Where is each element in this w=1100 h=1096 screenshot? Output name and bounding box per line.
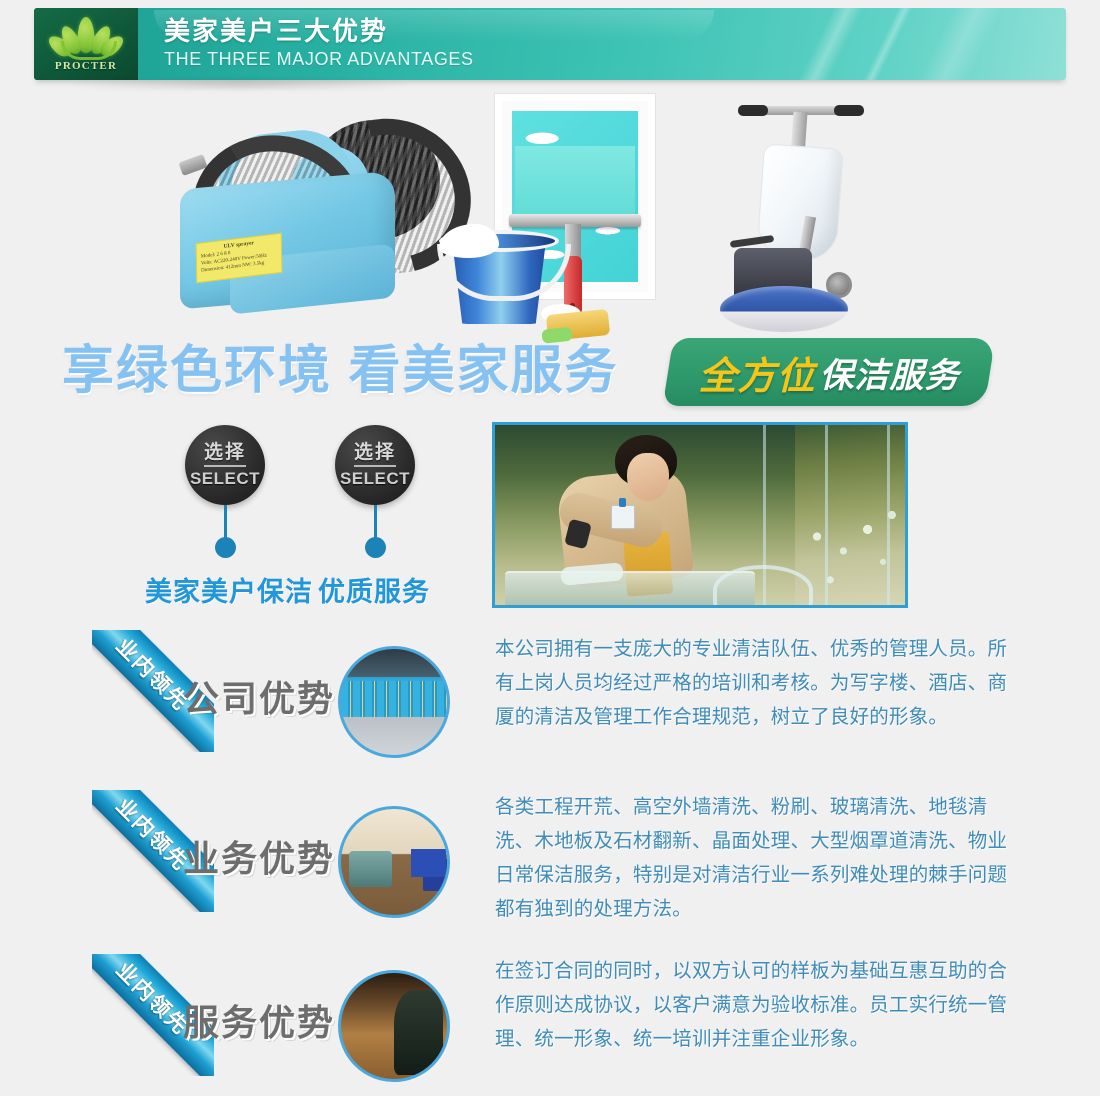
leaf-crown-icon [49, 17, 123, 59]
advantage-photo-3 [338, 970, 450, 1082]
advantage-photo-2 [338, 806, 450, 918]
advantage-row-business: 业内领先 业务优势 各类工程开荒、高空外墙清洗、粉刷、玻璃清洗、地毯清洗、木地板… [0, 786, 1100, 936]
pin-dot-2 [365, 537, 386, 558]
select-badge-circle-1: 选择 SELECT [185, 425, 265, 505]
advantage-title-2: 业务优势 [183, 830, 335, 882]
glass-panel-divider-2 [825, 425, 828, 605]
promo-page: PROCTER 美家美户三大优势 THE THREE MAJOR ADVANTA… [0, 0, 1100, 1096]
header-streak-3 [900, 8, 1018, 80]
squeegee-blade [515, 146, 635, 216]
select-badge-cn-1: 选择 [204, 442, 246, 467]
advantage-row-company: 业内领先 公司优势 本公司拥有一支庞大的专业清洁队伍、优秀的管理人员。所有上岗人… [0, 626, 1100, 776]
hero-chair [713, 565, 813, 608]
header-title-cn: 美家美户三大优势 [164, 16, 474, 46]
brand-logo: PROCTER [34, 8, 138, 80]
sponge-icon [546, 309, 610, 341]
advantage-text-3: 在签订合同的同时，以双方认可的样板为基础互惠互助的合作原则达成协议，以客户满意为… [495, 954, 1011, 1056]
header-text-group: 美家美户三大优势 THE THREE MAJOR ADVANTAGES [164, 16, 474, 71]
floor-polisher-image [720, 96, 900, 321]
select-badge-caption-1: 美家美户保洁 [145, 570, 313, 609]
advantage-photo-1 [338, 646, 450, 758]
select-badge-en-2: SELECT [340, 469, 410, 488]
select-badge-en-1: SELECT [190, 469, 260, 488]
advantage-text-2: 各类工程开荒、高空外墙清洗、粉刷、玻璃清洗、地毯清洗、木地板及石材翻新、晶面处理… [495, 790, 1011, 926]
product-image-row: ULV sprayer Model: 2 6 8 0 Volts: AC220-… [0, 88, 1100, 340]
hero-worker-id-badge [611, 505, 635, 529]
page-header: PROCTER 美家美户三大优势 THE THREE MAJOR ADVANTA… [34, 8, 1066, 80]
pin-dot-1 [215, 537, 236, 558]
window-cleaning-illustration [495, 94, 655, 309]
select-badge-circle-2: 选择 SELECT [335, 425, 415, 505]
service-banner: 全方位 保洁服务 [663, 338, 996, 406]
advantage-text-1: 本公司拥有一支庞大的专业清洁队伍、优秀的管理人员。所有上岗人员均经过严格的培训和… [495, 632, 1011, 734]
worker-cleaning-photo [492, 422, 908, 608]
glass-panel-divider-3 [887, 425, 890, 605]
advantage-title-3: 服务优势 [183, 994, 335, 1046]
advantage-title-1: 公司优势 [183, 670, 335, 722]
service-banner-rest: 保洁服务 [820, 348, 960, 397]
header-title-en: THE THREE MAJOR ADVANTAGES [164, 47, 474, 71]
ulv-sprayer-image: ULV sprayer Model: 2 6 8 0 Volts: AC220-… [170, 102, 440, 327]
select-badge-caption-2: 优质服务 [318, 570, 430, 609]
select-badge-group: 选择 SELECT 选择 SELECT 美家美户保洁 优质服务 [0, 420, 480, 620]
header-streak-1 [780, 8, 878, 80]
polisher-pad-disc [720, 286, 848, 332]
main-slogan: 享绿色环境 看美家服务 [62, 340, 618, 402]
select-badge-2[interactable]: 选择 SELECT [335, 425, 415, 505]
brand-wordmark: PROCTER [55, 60, 117, 72]
header-streak-2 [845, 8, 927, 80]
select-badge-1[interactable]: 选择 SELECT [185, 425, 265, 505]
select-badge-cn-2: 选择 [354, 442, 396, 467]
service-banner-highlight: 全方位 [698, 345, 815, 400]
advantage-row-service: 业内领先 服务优势 在签订合同的同时，以双方认可的样板为基础互惠互助的合作原则达… [0, 950, 1100, 1090]
